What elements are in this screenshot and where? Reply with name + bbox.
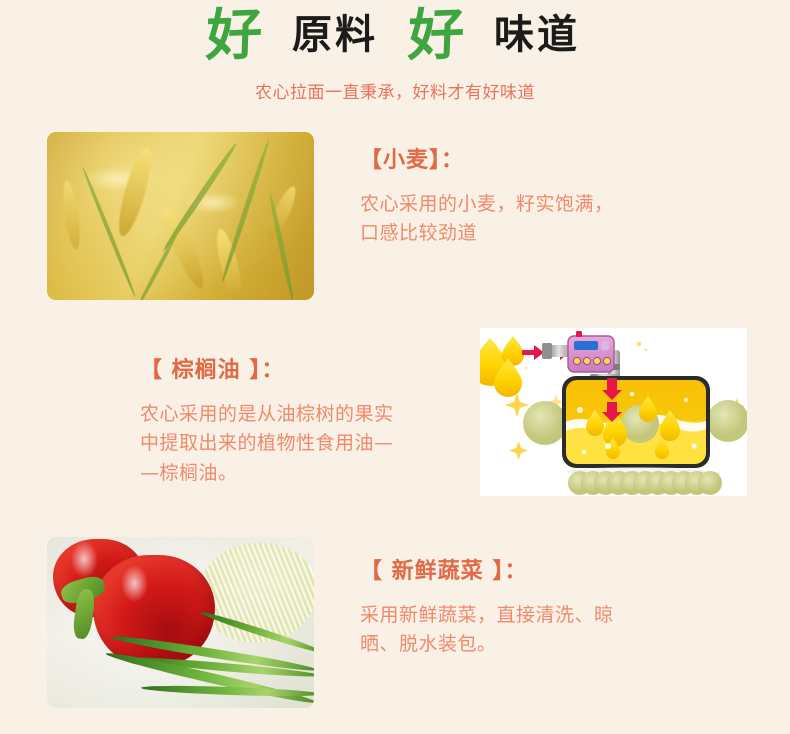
- wheat-title: 【小麦】：: [360, 142, 660, 174]
- palm-oil-process-illustration: [480, 328, 747, 496]
- header-title-part-4: 味道: [490, 15, 584, 55]
- oil-machine: [568, 331, 614, 372]
- header-title-part-2: 原料: [288, 15, 382, 55]
- palm-oil-body-line: 中提取出来的植物性食用油—: [140, 429, 470, 458]
- fresh-vegetables-text-block: 【 新鲜蔬菜 】： 采用新鲜蔬菜，直接清洗、晾 晒、脱水装包。: [360, 553, 670, 660]
- palm-oil-title: 【 棕榈油 】：: [140, 352, 470, 384]
- noodle-cake-row: [568, 471, 722, 495]
- palm-oil-body-line: 农心采用的是从油棕树的果实: [140, 400, 470, 429]
- wheat-body: 农心采用的小麦，籽实饱满， 口感比较劲道: [360, 190, 660, 249]
- palm-oil-svg: [480, 328, 747, 496]
- palm-oil-body-line: —棕榈油。: [140, 459, 470, 488]
- fresh-vegetables-title: 【 新鲜蔬菜 】：: [360, 553, 670, 585]
- header-title: 好原料好味道: [0, 8, 790, 64]
- wheat-field-photo: [47, 132, 314, 300]
- machine-screen: [574, 341, 598, 350]
- wheat-text-block: 【小麦】： 农心采用的小麦，籽实饱满， 口感比较劲道: [360, 142, 660, 249]
- wheat-body-line: 农心采用的小麦，籽实饱满，: [360, 190, 660, 219]
- fresh-vegetables-photo: [47, 537, 314, 708]
- fresh-vegetables-body-line: 采用新鲜蔬菜，直接清洗、晾: [360, 601, 670, 630]
- fresh-vegetables-body-line: 晒、脱水装包。: [360, 630, 670, 659]
- header-title-part-3: 好: [407, 7, 465, 65]
- page-header: 好原料好味道 农心拉面一直秉承，好料才有好味道: [0, 0, 790, 112]
- palm-oil-text-block: 【 棕榈油 】： 农心采用的是从油棕树的果实 中提取出来的植物性食用油— —棕榈…: [140, 352, 470, 488]
- header-title-part-1: 好: [205, 7, 263, 65]
- palm-oil-body: 农心采用的是从油棕树的果实 中提取出来的植物性食用油— —棕榈油。: [140, 400, 470, 488]
- oil-droplet-group: [480, 336, 524, 397]
- oil-tank: [562, 376, 710, 468]
- header-subtitle: 农心拉面一直秉承，好料才有好味道: [0, 78, 790, 103]
- fresh-vegetables-body: 采用新鲜蔬菜，直接清洗、晾 晒、脱水装包。: [360, 601, 670, 660]
- wheat-body-line: 口感比较劲道: [360, 219, 660, 248]
